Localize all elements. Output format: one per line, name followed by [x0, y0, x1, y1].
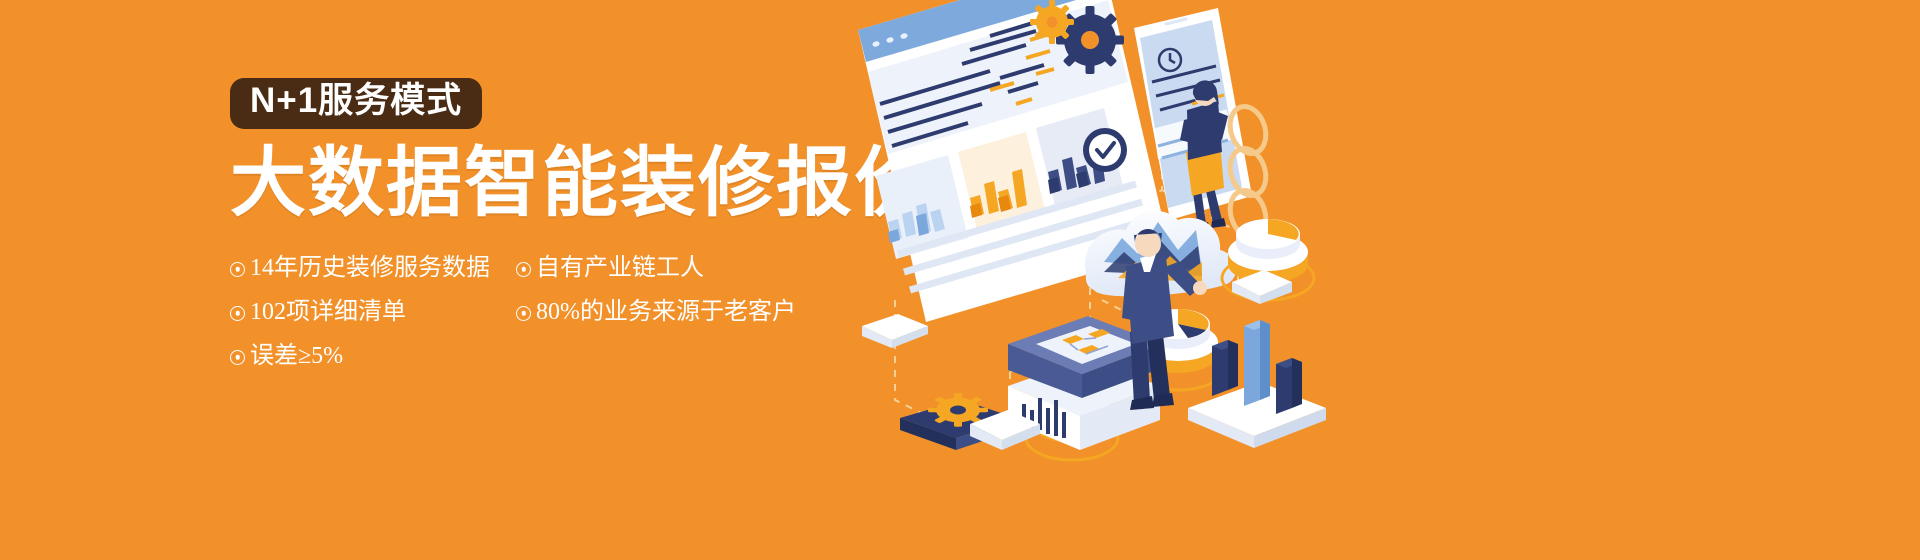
circled-dot-icon [516, 306, 531, 321]
list-item-label: 自有产业链工人 [536, 256, 704, 280]
circled-dot-icon [516, 262, 531, 277]
list-item-label: 误差≥5% [250, 344, 343, 368]
list-item: 误差≥5% [230, 344, 490, 368]
list-item-label: 14年历史装修服务数据 [250, 256, 490, 280]
bullet-column-left: 14年历史装修服务数据 102项详细清单 误差≥5% [230, 256, 490, 388]
list-item-label: 102项详细清单 [250, 300, 406, 324]
promo-banner: N+1服务模式 大数据智能装修报价 14年历史装修服务数据 102项详细清单 误… [0, 0, 1920, 560]
checkmark-badge [1083, 128, 1127, 172]
gear-small-orange [1030, 0, 1074, 44]
floating-card-small [862, 314, 928, 348]
list-item-label: 80%的业务来源于老客户 [536, 300, 796, 324]
circled-dot-icon [230, 306, 245, 321]
big-data-isometric-illustration [840, 0, 1400, 560]
service-model-badge: N+1服务模式 [230, 78, 482, 129]
list-item: 14年历史装修服务数据 [230, 256, 490, 280]
circled-dot-icon [230, 350, 245, 365]
bullet-column-right: 自有产业链工人 80%的业务来源于老客户 [516, 256, 816, 388]
list-item: 80%的业务来源于老客户 [516, 300, 816, 324]
list-item: 102项详细清单 [230, 300, 490, 324]
circled-dot-icon [230, 262, 245, 277]
list-item: 自有产业链工人 [516, 256, 816, 280]
